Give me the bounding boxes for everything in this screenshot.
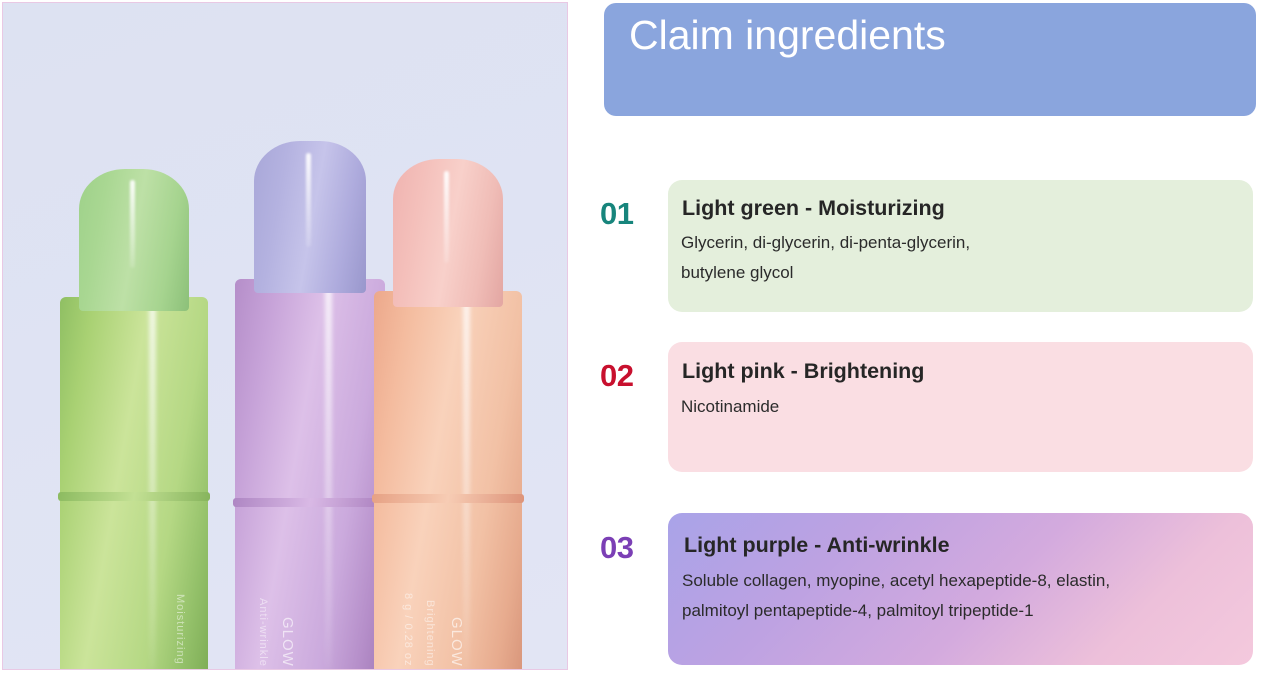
stick-cap-green xyxy=(79,169,189,311)
product-stick-pink: GLOW Brightening 8 g / 0.28 oz xyxy=(363,159,533,669)
ingredient-body-line: butylene glycol xyxy=(681,258,970,288)
stick-label-pink-weight: 8 g / 0.28 oz xyxy=(402,593,414,667)
ingredient-row-1: 01 Light green - Moisturizing Glycerin, … xyxy=(600,180,1256,312)
section-header-banner: Claim ingredients xyxy=(604,3,1256,116)
ingredient-body-line: palmitoyl pentapeptide-4, palmitoyl trip… xyxy=(682,596,1110,626)
stick-label-pink-primary: GLOW xyxy=(448,617,465,667)
ingredient-number-2: 02 xyxy=(600,358,662,394)
ingredient-number-1: 01 xyxy=(600,196,662,232)
ingredient-body-1: Glycerin, di-glycerin, di-penta-glycerin… xyxy=(681,228,970,288)
ingredient-body-3: Soluble collagen, myopine, acetyl hexape… xyxy=(682,566,1110,626)
product-photo-panel: Moisturizing GLOW Anti-wrinkle GLOW Brig… xyxy=(2,2,568,670)
ingredient-card-green: Light green - Moisturizing Glycerin, di-… xyxy=(668,180,1253,312)
ingredient-card-pink: Light pink - Brightening Nicotinamide xyxy=(668,342,1253,472)
ingredient-title-1: Light green - Moisturizing xyxy=(682,196,945,221)
ingredient-body-line: Nicotinamide xyxy=(681,392,779,422)
product-stick-green: Moisturizing xyxy=(49,169,219,669)
stick-barrel-green: Moisturizing xyxy=(60,297,208,669)
stick-barrel-pink: GLOW Brightening 8 g / 0.28 oz xyxy=(374,291,522,669)
ingredient-body-line: Glycerin, di-glycerin, di-penta-glycerin… xyxy=(681,228,970,258)
ingredient-row-2: 02 Light pink - Brightening Nicotinamide xyxy=(600,342,1256,472)
page-title: Claim ingredients xyxy=(629,11,946,60)
ingredient-row-3: 03 Light purple - Anti-wrinkle Soluble c… xyxy=(600,513,1256,665)
ingredient-card-purple: Light purple - Anti-wrinkle Soluble coll… xyxy=(668,513,1253,665)
stick-label-purple-primary: GLOW xyxy=(279,617,296,667)
stick-label-green-secondary: Moisturizing xyxy=(174,594,186,665)
ingredient-title-3: Light purple - Anti-wrinkle xyxy=(684,533,950,558)
stick-ring-green xyxy=(58,492,210,501)
ingredient-body-line: Soluble collagen, myopine, acetyl hexape… xyxy=(682,566,1110,596)
ingredient-title-2: Light pink - Brightening xyxy=(682,359,924,384)
stick-label-pink-secondary: Brightening xyxy=(424,600,436,667)
stick-ring-pink xyxy=(372,494,524,503)
ingredient-number-3: 03 xyxy=(600,530,662,566)
stick-label-purple-secondary: Anti-wrinkle xyxy=(257,598,269,667)
stick-cap-pink xyxy=(393,159,503,307)
ingredient-body-2: Nicotinamide xyxy=(681,392,779,422)
stick-cap-purple xyxy=(254,141,366,293)
